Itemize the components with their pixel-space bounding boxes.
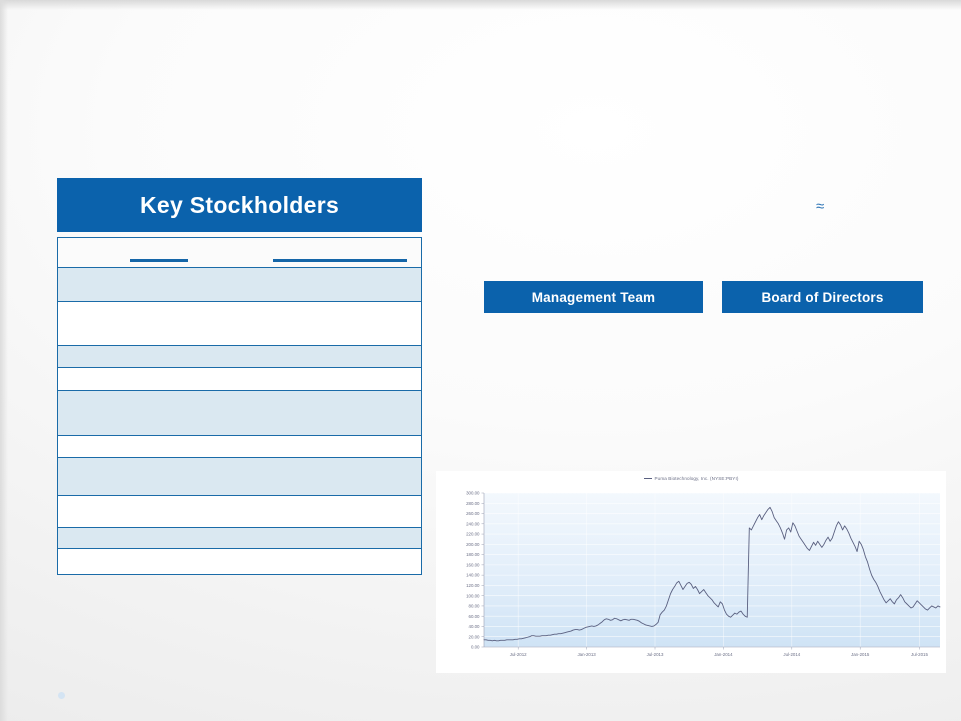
table-row[interactable] xyxy=(58,268,422,302)
chart-gridlines xyxy=(484,493,940,647)
management-team-button[interactable]: Management Team xyxy=(484,281,703,313)
column-underline-2 xyxy=(273,259,407,262)
approximately-equal-icon: ≈ xyxy=(816,199,824,214)
svg-text:Jan-2013: Jan-2013 xyxy=(577,652,596,657)
table-cell xyxy=(179,436,300,458)
table-cell xyxy=(179,368,300,391)
management-team-button-label: Management Team xyxy=(532,290,656,305)
table-cell xyxy=(179,458,300,496)
table-row[interactable] xyxy=(58,458,422,496)
table-row[interactable] xyxy=(58,302,422,346)
svg-text:Jul-2012: Jul-2012 xyxy=(510,652,527,657)
table-cell xyxy=(58,496,179,528)
table-row[interactable] xyxy=(58,436,422,458)
key-stockholders-header: Key Stockholders xyxy=(57,178,422,232)
presentation-slide: Key Stockholders xyxy=(0,0,961,721)
svg-text:Jul-2013: Jul-2013 xyxy=(647,652,664,657)
table-cell xyxy=(179,496,300,528)
table-cell xyxy=(58,368,179,391)
table-cell xyxy=(300,268,421,302)
board-of-directors-button[interactable]: Board of Directors xyxy=(722,281,923,313)
column-underline-1 xyxy=(130,259,188,262)
table-cell xyxy=(58,391,179,436)
table-cell xyxy=(58,436,179,458)
svg-text:240.00: 240.00 xyxy=(466,521,480,526)
table-cell xyxy=(58,528,179,549)
svg-text:Jan-2014: Jan-2014 xyxy=(714,652,733,657)
table-cell xyxy=(300,368,421,391)
table-cell xyxy=(300,528,421,549)
table-cell xyxy=(300,391,421,436)
table-row[interactable] xyxy=(58,496,422,528)
chart-x-axis: Jul-2012Jan-2013Jul-2013Jan-2014Jul-2014… xyxy=(484,647,940,657)
table-cell xyxy=(179,302,300,346)
table-cell xyxy=(58,268,179,302)
page-title: Key Stockholders xyxy=(140,192,339,219)
bullet-point-icon xyxy=(58,692,65,699)
svg-text:0.00: 0.00 xyxy=(471,645,480,650)
table-cell xyxy=(179,268,300,302)
svg-text:280.00: 280.00 xyxy=(466,501,480,506)
key-stockholders-table xyxy=(57,237,422,575)
svg-text:Jul-2014: Jul-2014 xyxy=(783,652,800,657)
svg-text:300.00: 300.00 xyxy=(466,491,480,496)
table-cell xyxy=(300,302,421,346)
table-cell xyxy=(179,528,300,549)
table-cell xyxy=(300,549,421,575)
svg-text:200.00: 200.00 xyxy=(466,542,480,547)
svg-text:180.00: 180.00 xyxy=(466,552,480,557)
table-header-cell xyxy=(58,238,422,268)
svg-text:260.00: 260.00 xyxy=(466,511,480,516)
table-cell xyxy=(58,346,179,368)
board-of-directors-button-label: Board of Directors xyxy=(761,290,883,305)
svg-text:Jul-2015: Jul-2015 xyxy=(911,652,928,657)
table-cell xyxy=(300,436,421,458)
table-row[interactable] xyxy=(58,549,422,575)
table-cell xyxy=(58,549,179,575)
header-rules-container xyxy=(58,238,421,267)
table-cell xyxy=(179,346,300,368)
table-row[interactable] xyxy=(58,368,422,391)
table-header-row xyxy=(58,238,422,268)
key-stockholders-panel: Key Stockholders xyxy=(57,178,422,575)
table-cell xyxy=(300,346,421,368)
table-row[interactable] xyxy=(58,391,422,436)
table-body xyxy=(58,238,422,575)
svg-text:Jan-2015: Jan-2015 xyxy=(851,652,870,657)
svg-text:20.00: 20.00 xyxy=(469,634,481,639)
table-cell xyxy=(58,302,179,346)
svg-text:140.00: 140.00 xyxy=(466,573,480,578)
svg-text:220.00: 220.00 xyxy=(466,532,480,537)
svg-text:160.00: 160.00 xyxy=(466,562,480,567)
table-cell xyxy=(300,496,421,528)
table-cell xyxy=(179,549,300,575)
svg-text:60.00: 60.00 xyxy=(469,614,481,619)
svg-text:100.00: 100.00 xyxy=(466,593,480,598)
table-row[interactable] xyxy=(58,346,422,368)
stock-price-chart: Puma Biotechnology, Inc. (NYSE:PBYI) 0.0… xyxy=(436,471,946,673)
svg-text:120.00: 120.00 xyxy=(466,583,480,588)
table-cell xyxy=(179,391,300,436)
svg-text:40.00: 40.00 xyxy=(469,624,481,629)
table-row[interactable] xyxy=(58,528,422,549)
chart-canvas: 0.0020.0040.0060.0080.00100.00120.00140.… xyxy=(436,471,946,673)
table-cell xyxy=(58,458,179,496)
table-cell xyxy=(300,458,421,496)
svg-text:80.00: 80.00 xyxy=(469,604,481,609)
chart-y-axis: 0.0020.0040.0060.0080.00100.00120.00140.… xyxy=(466,491,484,650)
